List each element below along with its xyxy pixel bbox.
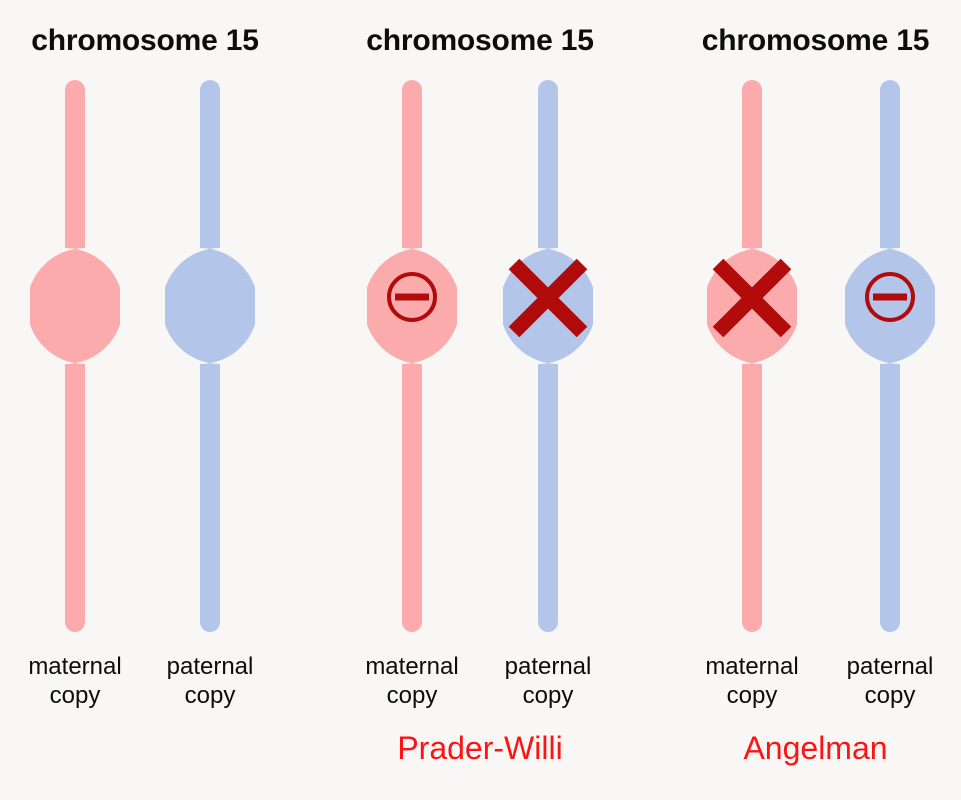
maternal-copy-label-line1: maternal <box>347 652 477 681</box>
panel-title: chromosome 15 <box>670 24 961 58</box>
panel-normal: chromosome 15 maternal copy paternal cop… <box>0 0 290 800</box>
maternal-copy-label-line2: copy <box>347 681 477 710</box>
minus-circle-icon <box>367 252 457 342</box>
maternal-copy-label: maternal copy <box>10 652 140 710</box>
maternal-copy-label-line2: copy <box>10 681 140 710</box>
paternal-copy-label-line1: paternal <box>825 652 955 681</box>
minus-circle-icon <box>845 252 935 342</box>
panel-angelman: chromosome 15 <box>670 0 961 800</box>
chromosome-paternal <box>845 78 935 634</box>
paternal-copy-label-line2: copy <box>145 681 275 710</box>
paternal-copy-label-line2: copy <box>825 681 955 710</box>
syndrome-label: Angelman <box>670 730 961 767</box>
chromosome-maternal <box>707 78 797 634</box>
maternal-copy-label-line1: maternal <box>10 652 140 681</box>
paternal-copy-label-line2: copy <box>483 681 613 710</box>
chromosome-maternal <box>30 78 120 634</box>
chromosome-paternal <box>503 78 593 634</box>
panel-title: chromosome 15 <box>330 24 630 58</box>
maternal-copy-label: maternal copy <box>347 652 477 710</box>
chromosome-paternal <box>165 78 255 634</box>
panel-title: chromosome 15 <box>0 24 290 58</box>
chromosome-maternal <box>367 78 457 634</box>
paternal-copy-label: paternal copy <box>825 652 955 710</box>
panel-prader-willi: chromosome 15 <box>330 0 630 800</box>
cross-icon <box>707 253 797 343</box>
cross-icon <box>503 253 593 343</box>
syndrome-label: Prader-Willi <box>330 730 630 767</box>
paternal-copy-label: paternal copy <box>145 652 275 710</box>
maternal-copy-label: maternal copy <box>687 652 817 710</box>
maternal-copy-label-line1: maternal <box>687 652 817 681</box>
paternal-copy-label: paternal copy <box>483 652 613 710</box>
maternal-copy-label-line2: copy <box>687 681 817 710</box>
chromosome-imprinting-diagram: chromosome 15 maternal copy paternal cop… <box>0 0 961 800</box>
paternal-copy-label-line1: paternal <box>483 652 613 681</box>
paternal-copy-label-line1: paternal <box>145 652 275 681</box>
